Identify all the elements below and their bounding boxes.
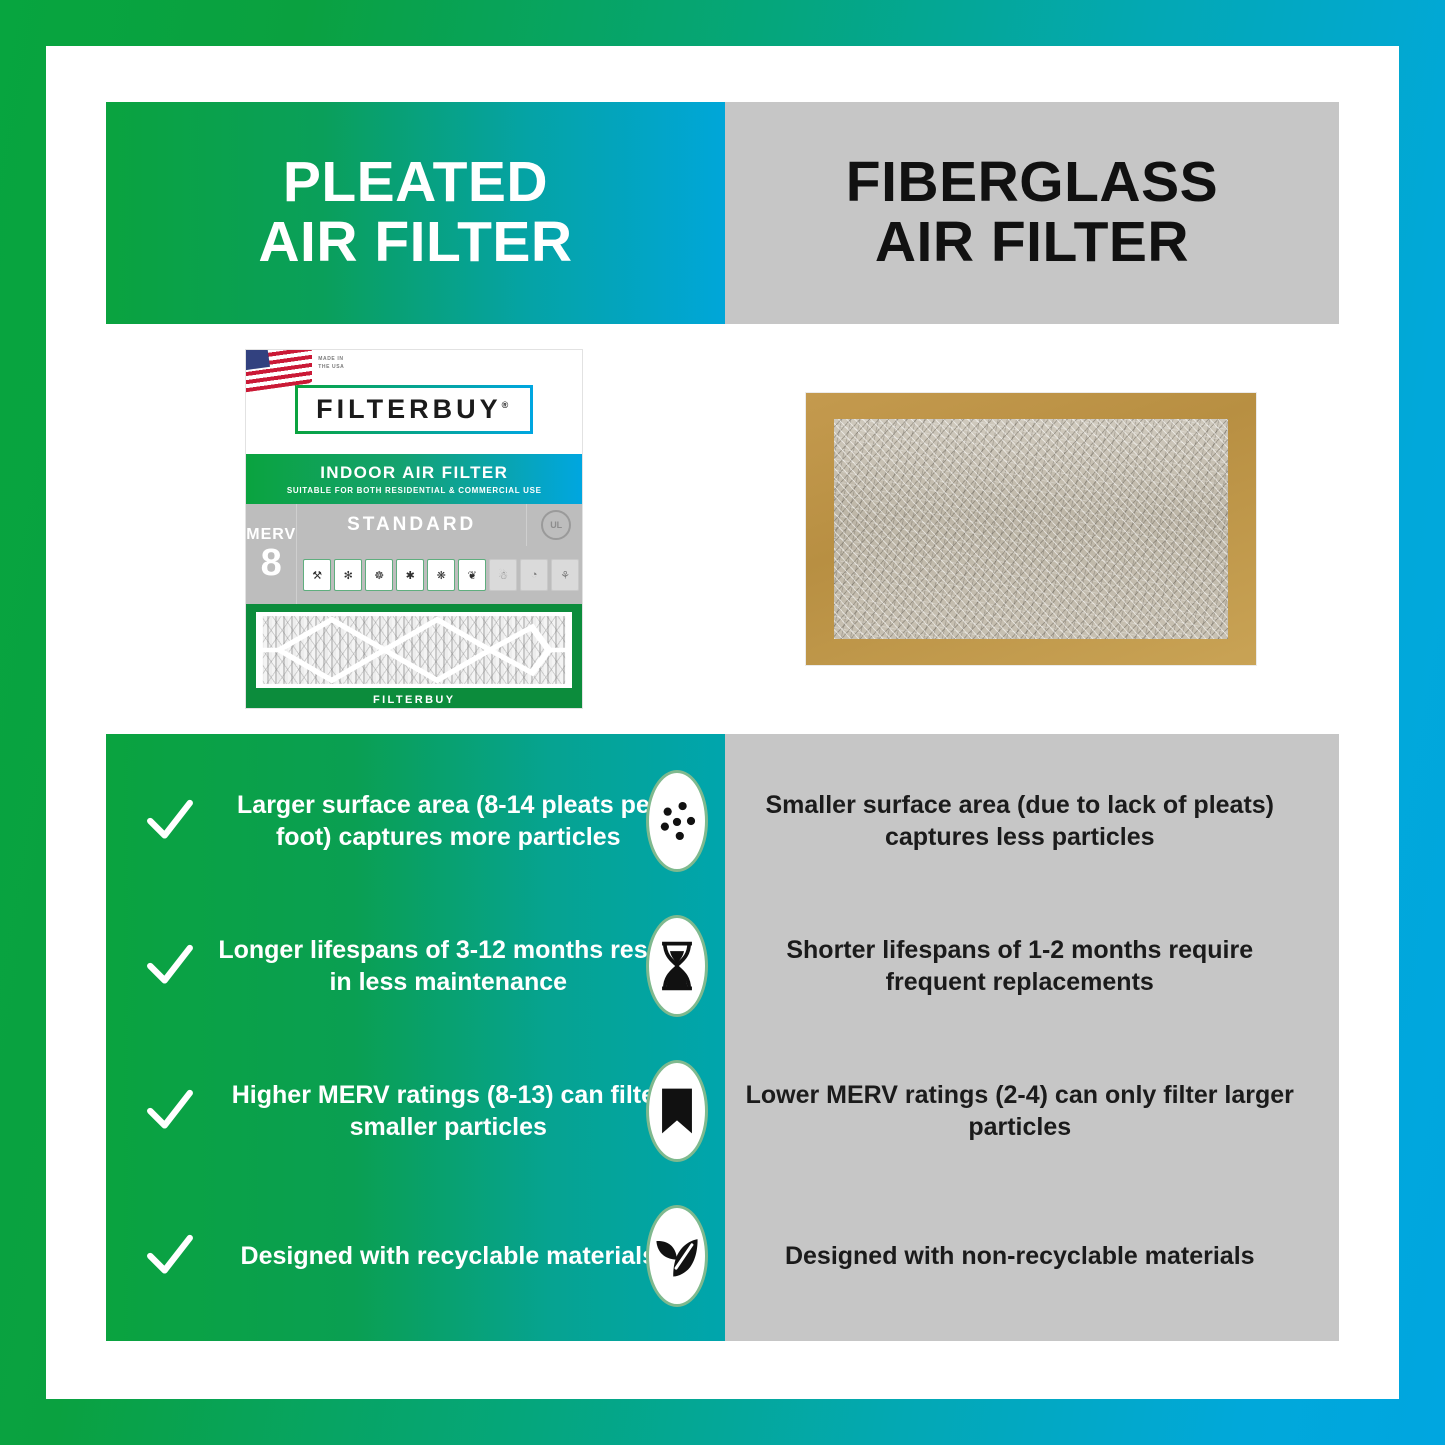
pet-dander-icon: ❦ bbox=[458, 559, 486, 591]
made-in-line1: MADE IN bbox=[318, 356, 344, 364]
fiberglass-product-cell bbox=[723, 324, 1340, 734]
pleated-media-area: FILTERBUY bbox=[246, 604, 582, 708]
brand-name: FILTERBUY® bbox=[316, 396, 512, 423]
dust-lint-icon: ⚒ bbox=[303, 559, 331, 591]
spec-right: STANDARD UL ⚒ ✻ ☸ ✱ ❋ bbox=[297, 504, 582, 604]
header-fiberglass: FIBERGLASS AIR FILTER bbox=[725, 102, 1339, 324]
pleated-benefit-text: Designed with recyclable materials bbox=[214, 1240, 697, 1272]
brand-text: FILTERBUY bbox=[316, 394, 502, 424]
comparison-rows: Larger surface area (8-14 pleats per foo… bbox=[106, 734, 1339, 1341]
row-pleated-cell: Higher MERV ratings (8-13) can filter sm… bbox=[106, 1079, 707, 1143]
checkmark-icon bbox=[142, 793, 198, 849]
pleated-benefit-text: Longer lifespans of 3-12 months result i… bbox=[214, 934, 697, 998]
infographic-sheet: PLEATED AIR FILTER FIBERGLASS AIR FILTER bbox=[46, 46, 1399, 1399]
made-in-usa-label: MADE IN THE USA bbox=[318, 356, 344, 371]
row-pleated-cell: Larger surface area (8-14 pleats per foo… bbox=[106, 789, 707, 853]
header-fiberglass-line1: FIBERGLASS bbox=[846, 150, 1218, 214]
band-subtitle: SUITABLE FOR BOTH RESIDENTIAL & COMMERCI… bbox=[287, 486, 542, 495]
bacteria-icon: ❋ bbox=[427, 559, 455, 591]
header-band: PLEATED AIR FILTER FIBERGLASS AIR FILTER bbox=[106, 102, 1339, 324]
merv-value: 8 bbox=[261, 544, 282, 582]
fiberglass-drawback-text: Lower MERV ratings (2-4) can only filter… bbox=[743, 1079, 1298, 1143]
mold-icon: ☸ bbox=[365, 559, 393, 591]
support-grid bbox=[256, 612, 572, 688]
table-row: Larger surface area (8-14 pleats per foo… bbox=[106, 748, 1339, 893]
row-pleated-cell: Designed with recyclable materials bbox=[106, 1228, 707, 1284]
gradient-border-frame: PLEATED AIR FILTER FIBERGLASS AIR FILTER bbox=[0, 0, 1445, 1445]
checkmark-icon bbox=[142, 1228, 198, 1284]
pollen-icon: ✻ bbox=[334, 559, 362, 591]
pleated-benefit-text: Larger surface area (8-14 pleats per foo… bbox=[214, 789, 697, 853]
merv-block: MERV 8 bbox=[246, 504, 297, 604]
header-pleated-line1: PLEATED bbox=[283, 150, 548, 214]
made-in-line2: THE USA bbox=[318, 364, 344, 372]
indoor-air-filter-band: INDOOR AIR FILTER SUITABLE FOR BOTH RESI… bbox=[246, 454, 582, 504]
product-image-band: MADE IN THE USA FILTERBUY® INDOOR AIR FI… bbox=[106, 324, 1339, 734]
brand-logo-box: FILTERBUY® bbox=[295, 385, 533, 434]
usa-flag-icon bbox=[246, 350, 312, 396]
header-pleated-line2: AIR FILTER bbox=[258, 210, 572, 274]
smoke-icon: ☃ bbox=[489, 559, 517, 591]
row-fiberglass-cell: Designed with non-recyclable materials bbox=[707, 1240, 1340, 1272]
leaf-icon bbox=[646, 1205, 708, 1307]
header-fiberglass-line2: AIR FILTER bbox=[875, 210, 1189, 274]
table-row: Designed with recyclable materials Desig… bbox=[106, 1184, 1339, 1329]
pleated-product-cell: MADE IN THE USA FILTERBUY® INDOOR AIR FI… bbox=[106, 324, 723, 734]
header-pleated-title: PLEATED AIR FILTER bbox=[258, 153, 572, 273]
header-pleated: PLEATED AIR FILTER bbox=[106, 102, 725, 324]
grade-label: STANDARD bbox=[297, 504, 527, 546]
particles-icon bbox=[646, 770, 708, 872]
pleated-filter-product-image: MADE IN THE USA FILTERBUY® INDOOR AIR FI… bbox=[246, 350, 582, 708]
fiberglass-filter-product-image bbox=[806, 393, 1256, 665]
ul-certification-icon: UL bbox=[541, 510, 571, 540]
product-footer-brand: FILTERBUY bbox=[246, 694, 582, 706]
row-pleated-cell: Longer lifespans of 3-12 months result i… bbox=[106, 934, 707, 998]
row-fiberglass-cell: Shorter lifespans of 1-2 months require … bbox=[707, 934, 1340, 998]
row-fiberglass-cell: Smaller surface area (due to lack of ple… bbox=[707, 789, 1340, 853]
feature-icons-row: ⚒ ✻ ☸ ✱ ❋ ❦ ☃ ◔ ⚘ bbox=[297, 546, 582, 604]
mites-icon: ✱ bbox=[396, 559, 424, 591]
fiberglass-drawback-text: Smaller surface area (due to lack of ple… bbox=[743, 789, 1298, 853]
table-row: Higher MERV ratings (8-13) can filter sm… bbox=[106, 1039, 1339, 1184]
certification-cell: UL bbox=[527, 504, 582, 546]
pleated-benefit-text: Higher MERV ratings (8-13) can filter sm… bbox=[214, 1079, 697, 1143]
spec-band: MERV 8 STANDARD UL ⚒ bbox=[246, 504, 582, 604]
fiberglass-drawback-text: Designed with non-recyclable materials bbox=[743, 1240, 1298, 1272]
bookmark-icon bbox=[646, 1060, 708, 1162]
pleated-box-top: MADE IN THE USA FILTERBUY® bbox=[246, 350, 582, 454]
header-fiberglass-title: FIBERGLASS AIR FILTER bbox=[846, 153, 1218, 273]
brand-registered-mark: ® bbox=[502, 400, 513, 410]
pleat-texture bbox=[256, 612, 572, 688]
comparison-section: Larger surface area (8-14 pleats per foo… bbox=[106, 734, 1339, 1341]
checkmark-icon bbox=[142, 938, 198, 994]
table-row: Longer lifespans of 3-12 months result i… bbox=[106, 893, 1339, 1038]
odor-icon: ◔ bbox=[520, 559, 548, 591]
fiberglass-media-texture bbox=[834, 419, 1228, 639]
spec-top-row: STANDARD UL bbox=[297, 504, 582, 546]
fiberglass-drawback-text: Shorter lifespans of 1-2 months require … bbox=[743, 934, 1298, 998]
band-title: INDOOR AIR FILTER bbox=[320, 463, 508, 483]
hourglass-icon bbox=[646, 915, 708, 1017]
checkmark-icon bbox=[142, 1083, 198, 1139]
row-fiberglass-cell: Lower MERV ratings (2-4) can only filter… bbox=[707, 1079, 1340, 1143]
virus-icon: ⚘ bbox=[551, 559, 579, 591]
